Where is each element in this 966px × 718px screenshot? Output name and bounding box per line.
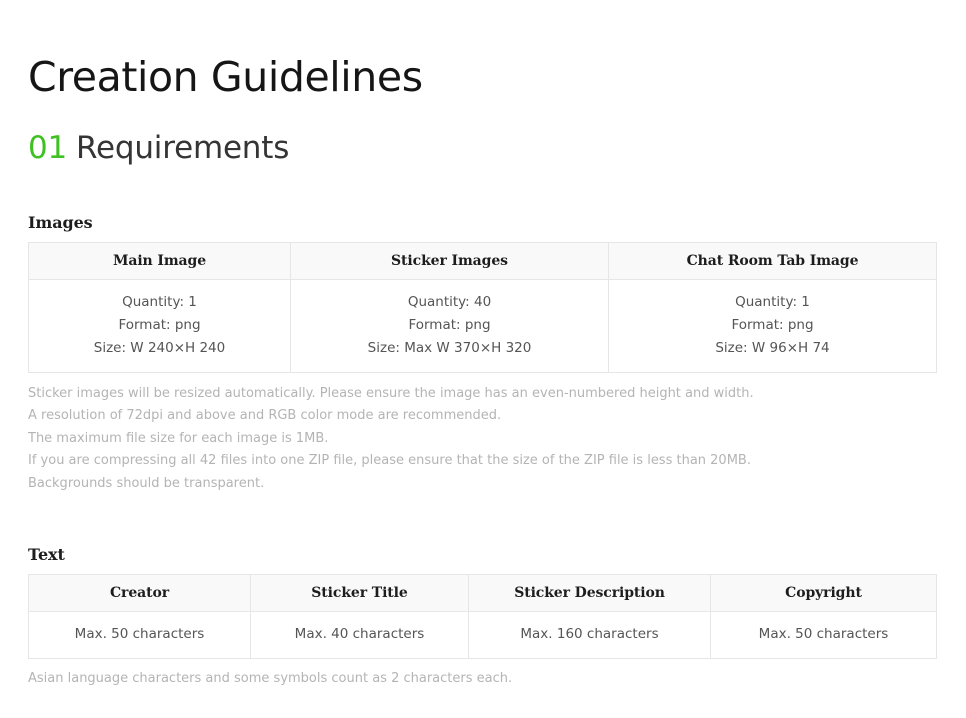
cell-sticker-description-limit: Max. 160 characters <box>469 612 711 659</box>
cell-sticker-images-specs: Quantity: 40 Format: png Size: Max W 370… <box>291 280 609 373</box>
cell-main-image-specs: Quantity: 1 Format: png Size: W 240×H 24… <box>29 280 291 373</box>
section-number: 01 <box>28 130 67 166</box>
column-header-sticker-images: Sticker Images <box>291 243 609 280</box>
note-line: The maximum file size for each image is … <box>28 428 754 450</box>
guidelines-page: Creation Guidelines 01Requirements Image… <box>0 0 966 718</box>
cell-chat-room-tab-image-specs: Quantity: 1 Format: png Size: W 96×H 74 <box>609 280 937 373</box>
subheading-images: Images <box>28 213 93 232</box>
spec-quantity: Quantity: 1 <box>35 291 284 314</box>
spec-quantity: Quantity: 1 <box>615 291 930 314</box>
note-line: Backgrounds should be transparent. <box>28 473 754 495</box>
cell-copyright-limit: Max. 50 characters <box>711 612 937 659</box>
images-notes: Sticker images will be resized automatic… <box>28 383 754 495</box>
spec-size: Size: Max W 370×H 320 <box>297 337 602 360</box>
column-header-creator: Creator <box>29 575 251 612</box>
column-header-copyright: Copyright <box>711 575 937 612</box>
text-notes: Asian language characters and some symbo… <box>28 668 512 690</box>
page-title: Creation Guidelines <box>28 55 423 100</box>
note-line: Sticker images will be resized automatic… <box>28 383 754 405</box>
spec-quantity: Quantity: 40 <box>297 291 602 314</box>
column-header-sticker-description: Sticker Description <box>469 575 711 612</box>
subheading-text: Text <box>28 545 65 564</box>
table-header-row: Main Image Sticker Images Chat Room Tab … <box>29 243 937 280</box>
text-requirements-table: Creator Sticker Title Sticker Descriptio… <box>28 574 937 659</box>
table-header-row: Creator Sticker Title Sticker Descriptio… <box>29 575 937 612</box>
column-header-main-image: Main Image <box>29 243 291 280</box>
spec-size: Size: W 240×H 240 <box>35 337 284 360</box>
spec-format: Format: png <box>297 314 602 337</box>
section-title: Requirements <box>76 130 289 166</box>
column-header-sticker-title: Sticker Title <box>251 575 469 612</box>
table-row: Max. 50 characters Max. 40 characters Ma… <box>29 612 937 659</box>
note-line: If you are compressing all 42 files into… <box>28 450 754 472</box>
cell-sticker-title-limit: Max. 40 characters <box>251 612 469 659</box>
spec-format: Format: png <box>615 314 930 337</box>
cell-creator-limit: Max. 50 characters <box>29 612 251 659</box>
note-line: A resolution of 72dpi and above and RGB … <box>28 405 754 427</box>
column-header-chat-room-tab-image: Chat Room Tab Image <box>609 243 937 280</box>
spec-size: Size: W 96×H 74 <box>615 337 930 360</box>
table-row: Quantity: 1 Format: png Size: W 240×H 24… <box>29 280 937 373</box>
spec-format: Format: png <box>35 314 284 337</box>
note-line: Asian language characters and some symbo… <box>28 668 512 690</box>
images-requirements-table: Main Image Sticker Images Chat Room Tab … <box>28 242 937 373</box>
section-heading: 01Requirements <box>28 131 289 165</box>
